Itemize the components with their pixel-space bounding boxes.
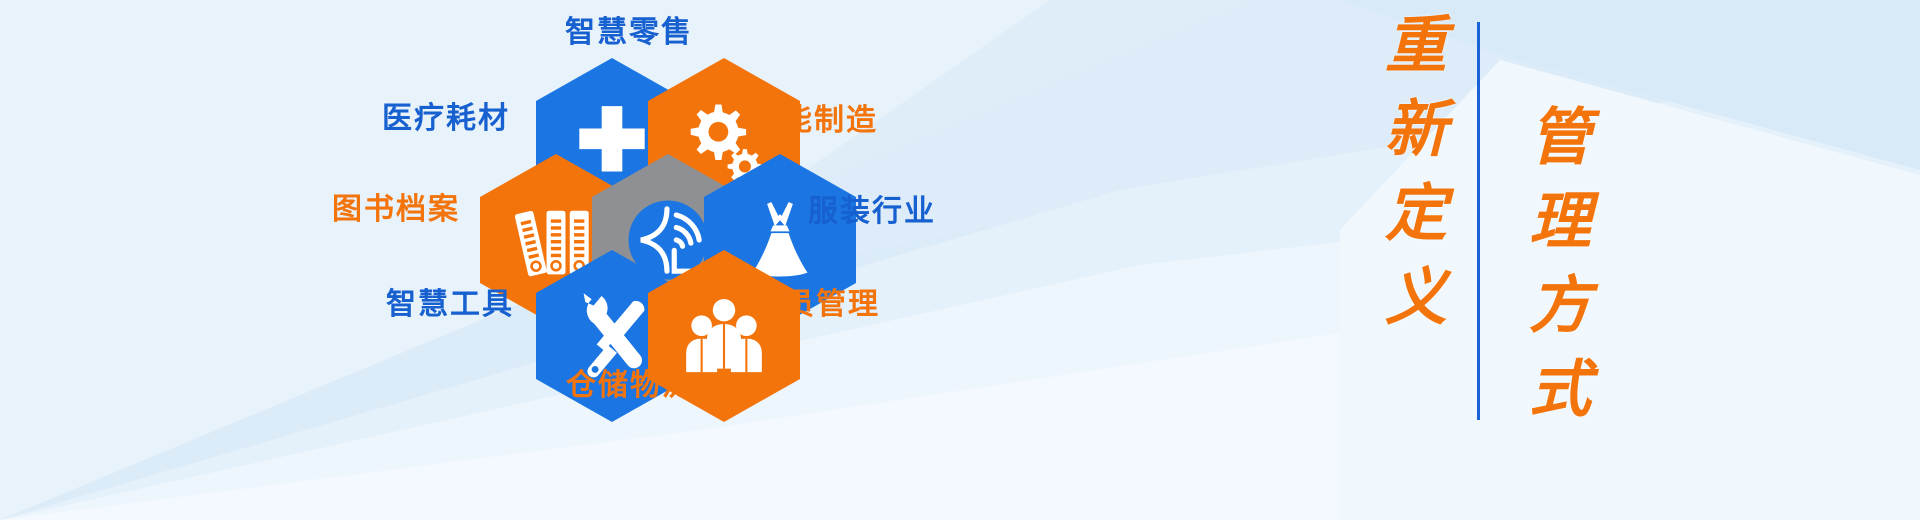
label-smart-tools: 智慧工具 [386, 290, 514, 320]
calligraphy-right-column: 管理方式 [1522, 104, 1584, 440]
banner-root: 智慧零售 医疗耗材 智能制造 图书档案 服装行业 智慧工具 人员管理 仓储物流 … [0, 0, 1920, 520]
label-library-archives: 图书档案 [332, 195, 460, 225]
calligraphy-divider [1477, 22, 1480, 420]
label-warehouse-logistics: 仓储物流 [566, 371, 694, 401]
label-smart-retail: 智慧零售 [565, 18, 693, 48]
calligraphy-block: 重新定义 管理方式 [1330, 0, 1660, 520]
label-personnel-management: 人员管理 [752, 290, 880, 320]
label-apparel-industry: 服装行业 [808, 197, 936, 227]
label-smart-manufacturing: 智能制造 [750, 106, 878, 136]
label-medical-supplies: 医疗耗材 [382, 104, 510, 134]
wrench-screwdriver-icon [569, 293, 655, 379]
calligraphy-left-column: 重新定义 [1378, 12, 1440, 348]
